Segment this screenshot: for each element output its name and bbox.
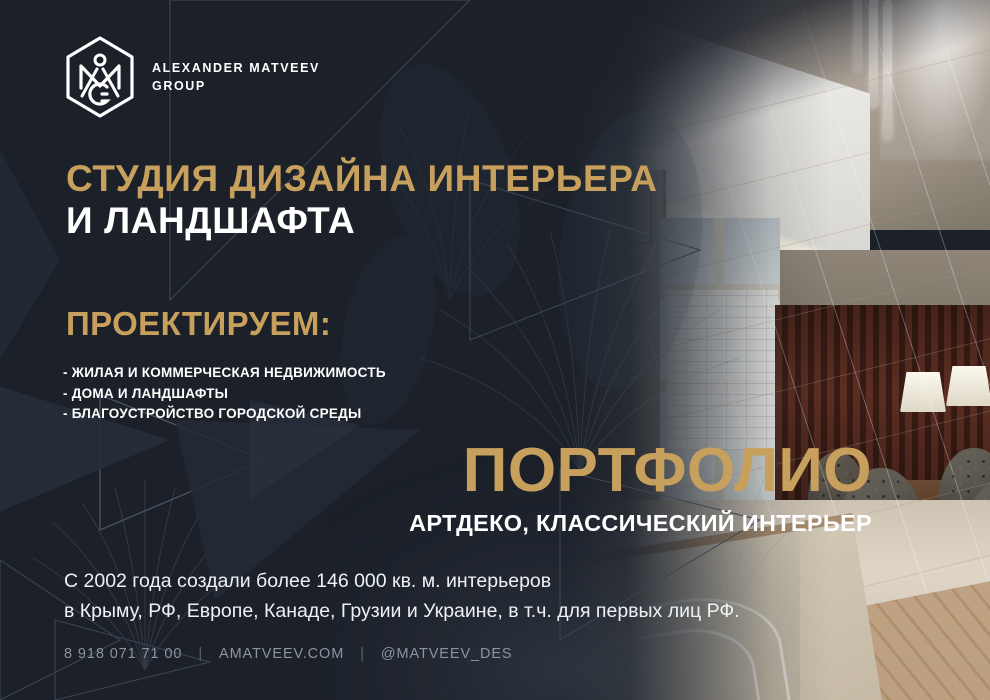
stats-line2: в Крыму, РФ, Европе, Канаде, Грузии и Ук… xyxy=(64,596,740,626)
social-handle[interactable]: @MATVEEV_DES xyxy=(381,646,513,662)
stats-line1: С 2002 года создали более 146 000 кв. м.… xyxy=(64,566,740,596)
services-list: - ЖИЛАЯ И КОММЕРЧЕСКАЯ НЕДВИЖИМОСТЬ - ДО… xyxy=(63,363,386,425)
separator: | xyxy=(198,646,203,662)
headline: СТУДИЯ ДИЗАЙНА ИНТЕРЬЕРА И ЛАНДШАФТА xyxy=(66,158,658,242)
hexagon-mg-monogram-logo-icon xyxy=(64,36,136,118)
brand-name-line1: ALEXANDER MATVEEV xyxy=(152,59,320,77)
portfolio-block: ПОРТФОЛИО АРТДЕКО, КЛАССИЧЕСКИЙ ИНТЕРЬЕР xyxy=(409,440,872,538)
stats-block: С 2002 года создали более 146 000 кв. м.… xyxy=(64,566,740,626)
brand-lockup[interactable]: ALEXANDER MATVEEV GROUP xyxy=(64,36,320,118)
phone-number[interactable]: 8 918 071 71 00 xyxy=(64,646,182,662)
brand-name-line2: GROUP xyxy=(152,77,320,95)
list-item: - ЖИЛАЯ И КОММЕРЧЕСКАЯ НЕДВИЖИМОСТЬ xyxy=(63,363,386,384)
list-item: - БЛАГОУСТРОЙСТВО ГОРОДСКОЙ СРЕДЫ xyxy=(63,404,386,425)
services-title: ПРОЕКТИРУЕМ: xyxy=(66,305,331,343)
portfolio-title: ПОРТФОЛИО xyxy=(409,440,872,502)
portfolio-subtitle: АРТДЕКО, КЛАССИЧЕСКИЙ ИНТЕРЬЕР xyxy=(409,508,872,538)
separator: | xyxy=(360,646,365,662)
portfolio-cover-slide: ALEXANDER MATVEEV GROUP СТУДИЯ ДИЗАЙНА И… xyxy=(0,0,990,700)
contact-bar: 8 918 071 71 00 | AMATVEEV.COM | @MATVEE… xyxy=(64,646,513,662)
website-link[interactable]: AMATVEEV.COM xyxy=(219,646,344,662)
list-item: - ДОМА И ЛАНДШАФТЫ xyxy=(63,384,386,405)
headline-line2: И ЛАНДШАФТА xyxy=(66,200,658,242)
headline-line1: СТУДИЯ ДИЗАЙНА ИНТЕРЬЕРА xyxy=(66,158,658,200)
